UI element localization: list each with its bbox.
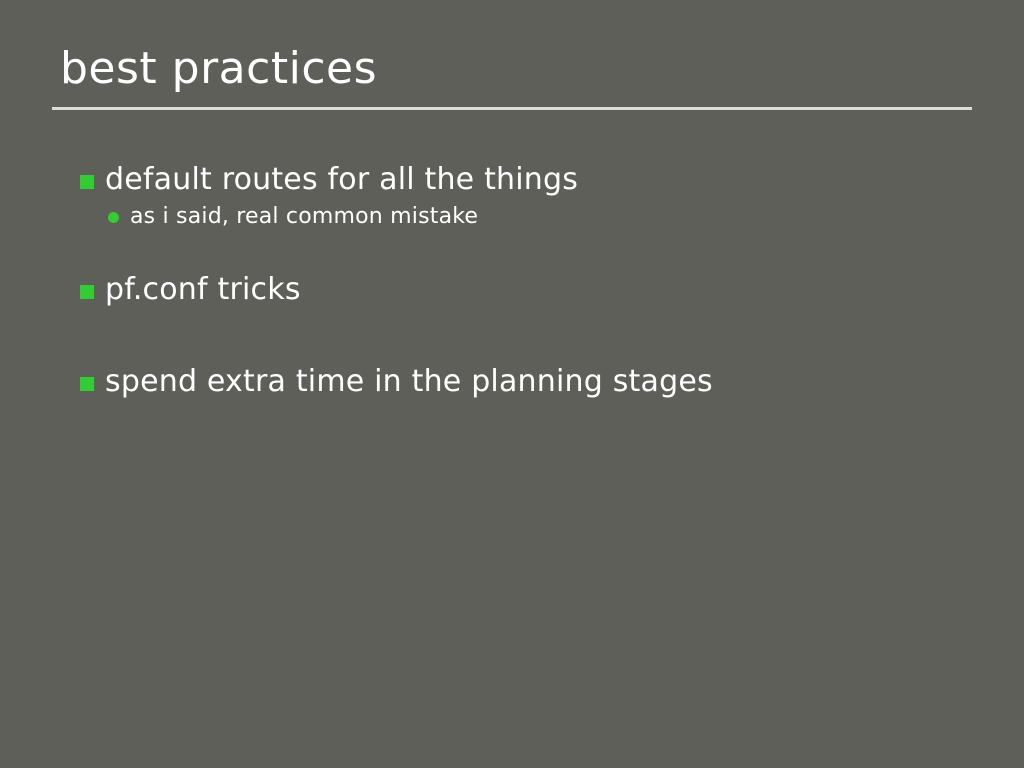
bullet-group: pf.conf tricks [0, 270, 1024, 312]
list-item: default routes for all the things [0, 160, 1024, 202]
bullet-group: spend extra time in the planning stages [0, 362, 1024, 404]
list-item: pf.conf tricks [0, 270, 1024, 312]
sub-list-item: as i said, real common mistake [0, 202, 1024, 232]
square-bullet-icon [80, 377, 94, 391]
sub-list-item-label: as i said, real common mistake [130, 204, 478, 229]
list-item: spend extra time in the planning stages [0, 362, 1024, 404]
title-divider [52, 107, 972, 110]
page-title: best practices [60, 42, 377, 96]
dot-bullet-icon [108, 212, 119, 223]
slide-body: default routes for all the things as i s… [0, 160, 1024, 404]
square-bullet-icon [80, 285, 94, 299]
presentation-slide: best practices default routes for all th… [0, 0, 1024, 768]
list-item-label: default routes for all the things [105, 162, 578, 197]
bullet-group: default routes for all the things as i s… [0, 160, 1024, 232]
list-item-label: pf.conf tricks [105, 272, 301, 307]
list-item-label: spend extra time in the planning stages [105, 364, 713, 399]
square-bullet-icon [80, 175, 94, 189]
